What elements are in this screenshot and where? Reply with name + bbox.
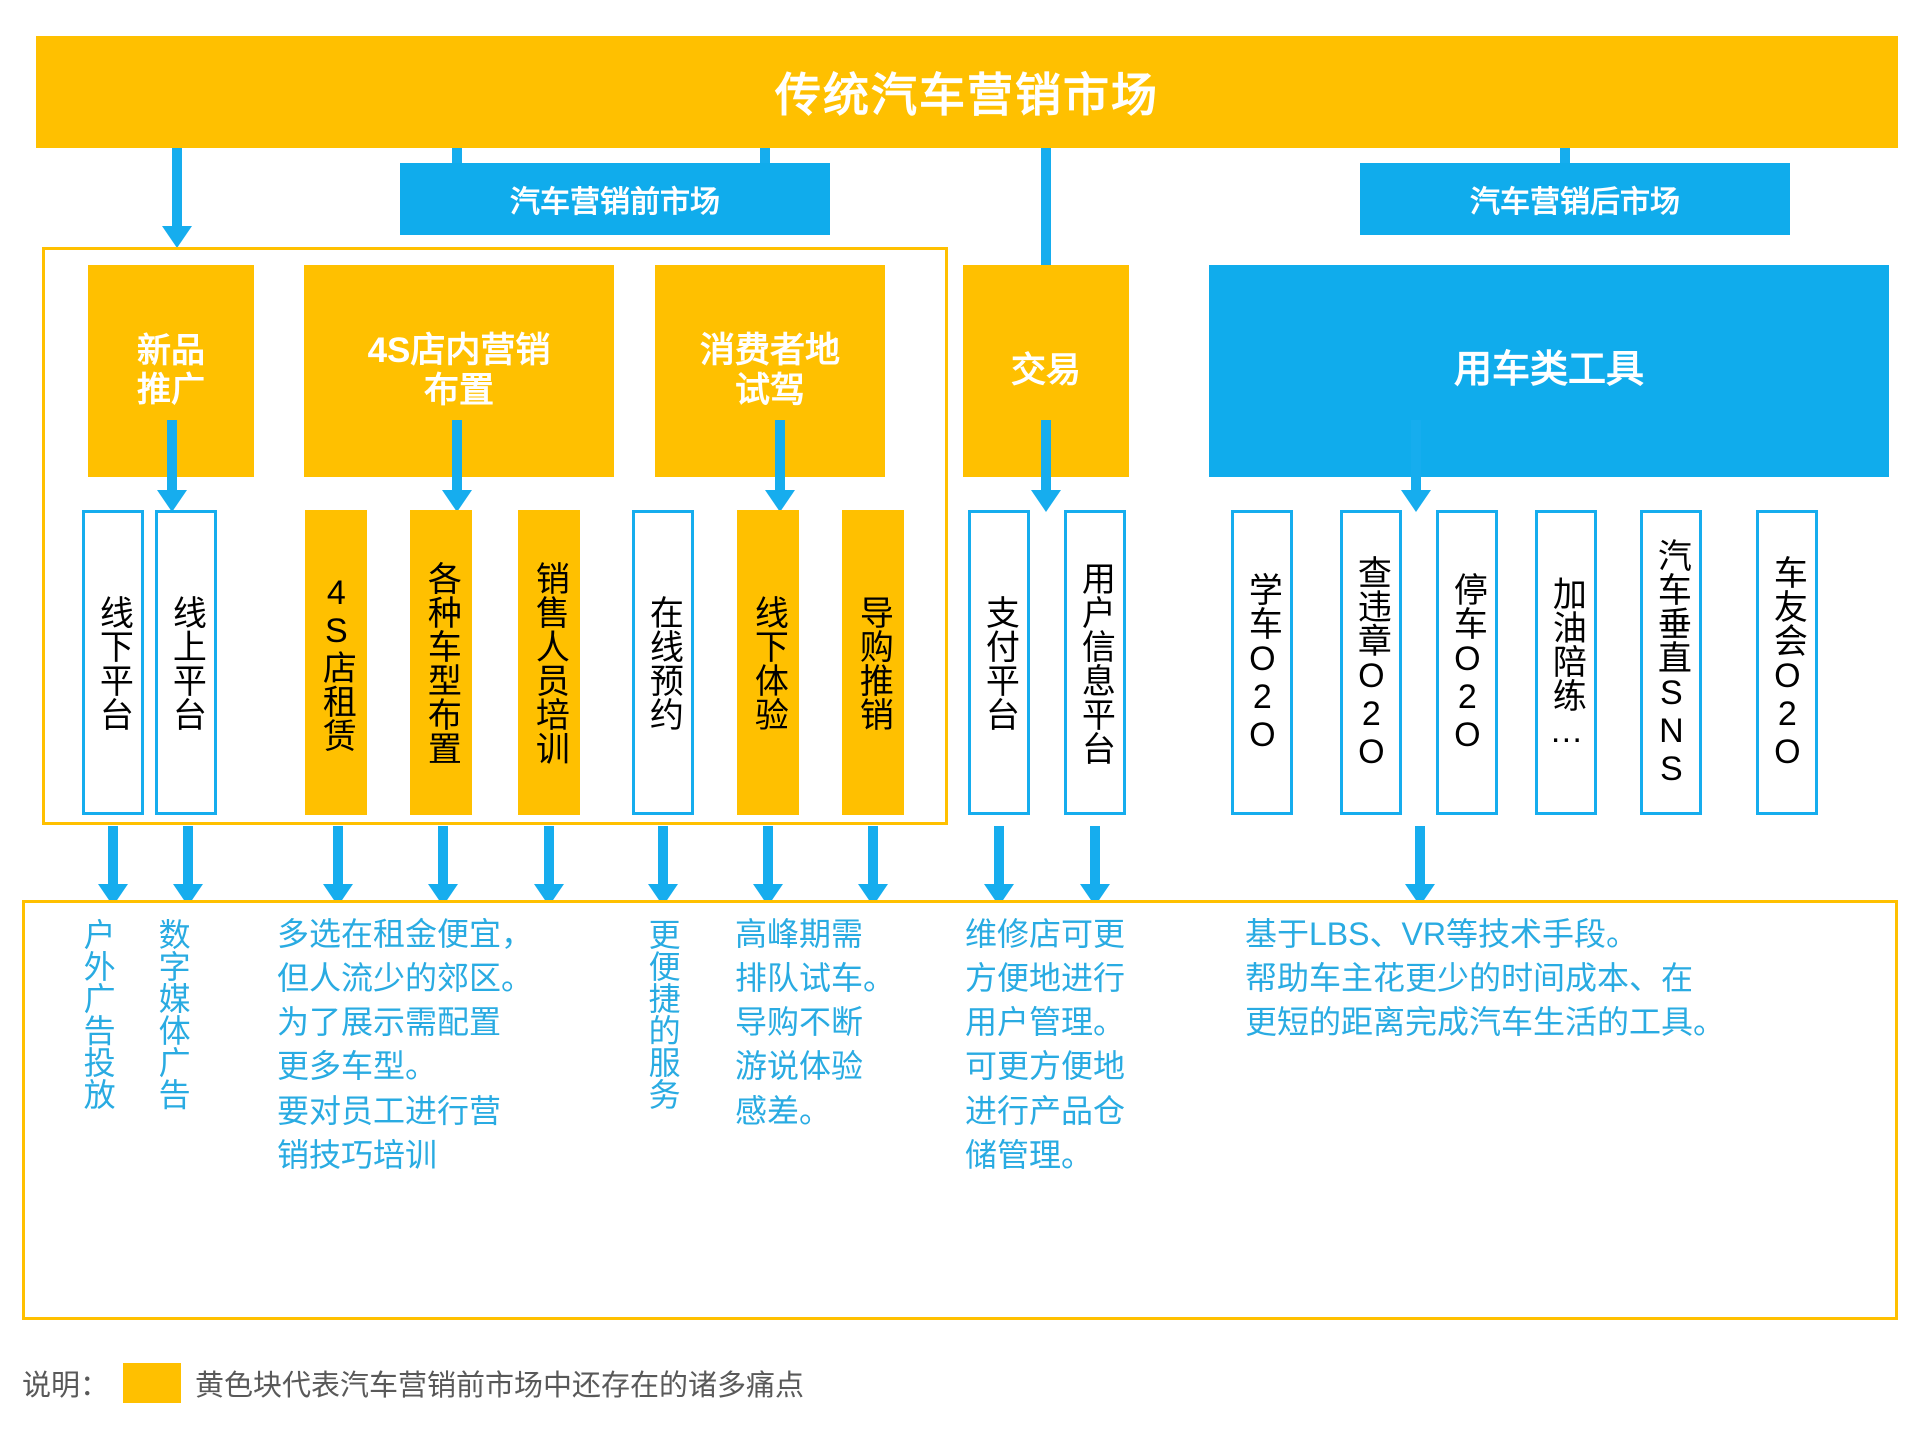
legend: 说明： 黄色块代表汽车营销前市场中还存在的诸多痛点 bbox=[22, 1362, 804, 1404]
chip-learn-driving-label: 学车O2O bbox=[1245, 572, 1280, 754]
chip-online-platform[interactable]: 线上平台 bbox=[155, 510, 217, 815]
chip-parking-label: 停车O2O bbox=[1450, 572, 1485, 754]
arrow-tools-to-chips bbox=[1396, 420, 1436, 512]
arrow-model-layout-to-note bbox=[423, 826, 463, 906]
note-service: 更便捷的服务 bbox=[645, 918, 679, 1208]
arrow-newproduct-to-chips bbox=[152, 420, 192, 512]
legend-label: 说明： bbox=[22, 1362, 109, 1404]
chip-refuel-coach[interactable]: 加油陪练… bbox=[1535, 510, 1597, 815]
category-new-product-label: 新品 推广 bbox=[137, 332, 205, 410]
note-digital-ad: 数字媒体广告 bbox=[155, 918, 189, 1208]
chip-dealer-rent-label: 4S店租赁 bbox=[319, 574, 354, 752]
arrow-banner-to-newproduct bbox=[157, 148, 197, 248]
arrow-guide-sales-to-note bbox=[853, 826, 893, 906]
arrow-testdrive-to-chips bbox=[760, 420, 800, 512]
chip-model-layout[interactable]: 各种车型布置 bbox=[410, 510, 472, 815]
section-header-post-market-label: 汽车营销后市场 bbox=[1470, 177, 1680, 221]
note-outdoor-ad-text: 户外广告投放 bbox=[80, 918, 116, 1110]
chip-sales-training-label: 销售人员培训 bbox=[532, 561, 567, 765]
section-header-post-market: 汽车营销后市场 bbox=[1360, 163, 1790, 235]
chip-guide-sales-label: 导购推销 bbox=[856, 595, 891, 731]
category-car-use-tools-label: 用车类工具 bbox=[1454, 349, 1644, 393]
note-transaction: 维修店可更 方便地进行 用户管理。 可更方便地 进行产品仓 储管理。 bbox=[965, 912, 1165, 1177]
category-transaction-label: 交易 bbox=[1011, 351, 1081, 391]
note-digital-ad-text: 数字媒体广告 bbox=[155, 918, 191, 1110]
chip-payment-platform[interactable]: 支付平台 bbox=[968, 510, 1030, 815]
chip-online-booking[interactable]: 在线预约 bbox=[632, 510, 694, 815]
arrow-payment-to-note bbox=[979, 826, 1019, 906]
chip-online-booking-label: 在线预约 bbox=[646, 595, 681, 731]
chip-online-platform-label: 线上平台 bbox=[169, 595, 204, 731]
chip-check-violation-label: 查违章O2O bbox=[1354, 555, 1389, 771]
note-car-use-tools: 基于LBS、VR等技术手段。 帮助车主花更少的时间成本、在 更短的距离完成汽车生… bbox=[1245, 912, 1885, 1044]
section-header-pre-market: 汽车营销前市场 bbox=[400, 163, 830, 235]
arrow-offline-exp-to-note bbox=[748, 826, 788, 906]
chip-offline-platform-label: 线下平台 bbox=[96, 595, 131, 731]
chip-user-info-platform-label: 用户信息平台 bbox=[1078, 561, 1113, 765]
arrow-offline-platform-to-note bbox=[93, 826, 133, 906]
chip-model-layout-label: 各种车型布置 bbox=[424, 561, 459, 765]
chip-check-violation[interactable]: 查违章O2O bbox=[1340, 510, 1402, 815]
arrow-sales-training-to-note bbox=[529, 826, 569, 906]
main-banner-title: 传统汽车营销市场 bbox=[775, 59, 1159, 125]
category-car-use-tools[interactable]: 用车类工具 bbox=[1209, 265, 1889, 477]
arrow-tools-to-note bbox=[1400, 826, 1440, 906]
chip-offline-experience-label: 线下体验 bbox=[751, 595, 786, 731]
chip-dealer-rent[interactable]: 4S店租赁 bbox=[305, 510, 367, 815]
note-service-text: 更便捷的服务 bbox=[645, 918, 681, 1110]
chip-auto-sns-label: 汽车垂直SNS bbox=[1654, 538, 1689, 788]
arrow-userinfo-to-note bbox=[1075, 826, 1115, 906]
legend-color-swatch bbox=[123, 1363, 181, 1403]
arrow-transaction-to-chips bbox=[1026, 420, 1066, 512]
chip-user-info-platform[interactable]: 用户信息平台 bbox=[1064, 510, 1126, 815]
note-test-drive: 高峰期需 排队试车。 导购不断 游说体验 感差。 bbox=[735, 912, 915, 1133]
category-dealer-marketing-label: 4S店内营销 布置 bbox=[368, 331, 551, 412]
section-header-pre-market-label: 汽车营销前市场 bbox=[510, 177, 720, 221]
main-banner: 传统汽车营销市场 bbox=[36, 36, 1898, 148]
arrow-online-booking-to-note bbox=[643, 826, 683, 906]
chip-offline-platform[interactable]: 线下平台 bbox=[82, 510, 144, 815]
chip-guide-sales[interactable]: 导购推销 bbox=[842, 510, 904, 815]
note-outdoor-ad: 户外广告投放 bbox=[80, 918, 114, 1208]
legend-description: 黄色块代表汽车营销前市场中还存在的诸多痛点 bbox=[195, 1362, 804, 1404]
arrow-dealer-to-chips bbox=[437, 420, 477, 512]
category-test-drive-label: 消费者地 试驾 bbox=[700, 331, 840, 412]
chip-offline-experience[interactable]: 线下体验 bbox=[737, 510, 799, 815]
chip-auto-sns[interactable]: 汽车垂直SNS bbox=[1640, 510, 1702, 815]
arrow-dealer-rent-to-note bbox=[318, 826, 358, 906]
chip-car-club[interactable]: 车友会O2O bbox=[1756, 510, 1818, 815]
chip-car-club-label: 车友会O2O bbox=[1770, 555, 1805, 771]
diagram-canvas: 传统汽车营销市场 汽车营销前市场 汽车营销后市场 新品 推广 4S店内营销 布置… bbox=[0, 0, 1920, 1440]
chip-parking[interactable]: 停车O2O bbox=[1436, 510, 1498, 815]
chip-sales-training[interactable]: 销售人员培训 bbox=[518, 510, 580, 815]
note-dealer-marketing: 多选在租金便宜， 但人流少的郊区。 为了展示需配置 更多车型。 要对员工进行营 … bbox=[277, 912, 577, 1177]
chip-learn-driving[interactable]: 学车O2O bbox=[1231, 510, 1293, 815]
arrow-online-platform-to-note bbox=[168, 826, 208, 906]
chip-refuel-coach-label: 加油陪练… bbox=[1549, 576, 1584, 750]
chip-payment-platform-label: 支付平台 bbox=[982, 595, 1017, 731]
